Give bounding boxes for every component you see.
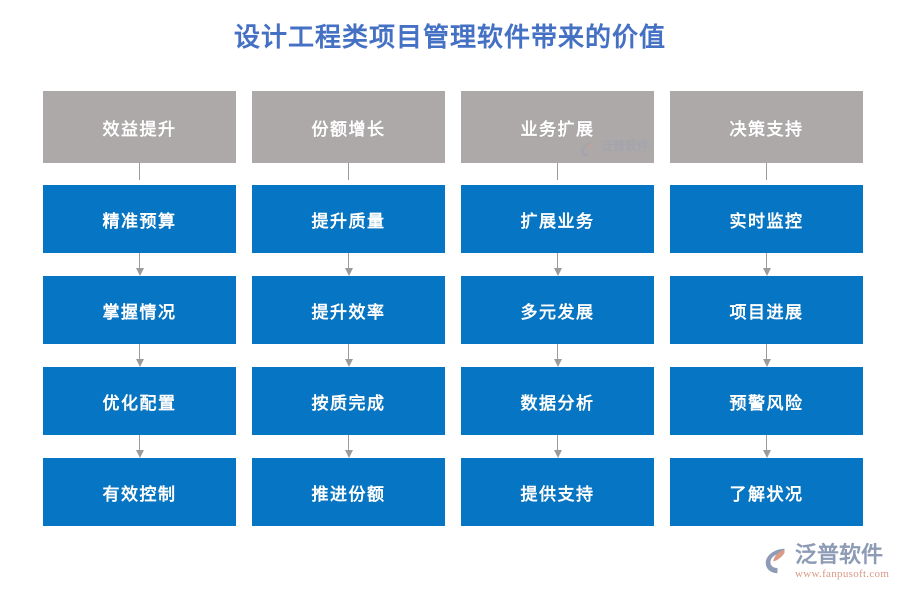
flow-step-3-4[interactable]: 提供支持 bbox=[461, 458, 654, 526]
flow-column-4: 决策支持 实时监控 项目进展 预警风险 了解状况 bbox=[670, 91, 863, 528]
connector-line bbox=[139, 163, 140, 180]
flow-step-1-4[interactable]: 有效控制 bbox=[43, 458, 236, 526]
brand-logo: 泛普软件 www.fanpusoft.com bbox=[762, 543, 892, 591]
flow-step-3-2[interactable]: 多元发展 bbox=[461, 276, 654, 344]
flow-step-4-1[interactable]: 实时监控 bbox=[670, 185, 863, 253]
diagram-canvas: 设计工程类项目管理软件带来的价值 效益提升 精准预算 掌握情况 优化配置 bbox=[0, 0, 900, 600]
flow-step-3-3[interactable]: 数据分析 bbox=[461, 367, 654, 435]
column-header-3[interactable]: 业务扩展 bbox=[461, 91, 654, 163]
arrow-down-icon bbox=[763, 268, 771, 276]
arrow-down-icon bbox=[763, 359, 771, 367]
brand-url: www.fanpusoft.com bbox=[795, 567, 889, 581]
connector-arrow-1-2 bbox=[43, 344, 236, 367]
connector-header-to-step1-col3 bbox=[461, 163, 654, 185]
arrow-down-icon bbox=[136, 268, 144, 276]
page-title: 设计工程类项目管理软件带来的价值 bbox=[0, 20, 900, 54]
arrow-down-icon bbox=[554, 359, 562, 367]
connector-arrow-3-1 bbox=[461, 253, 654, 276]
arrow-down-icon bbox=[345, 450, 353, 458]
connector-arrow-2-1 bbox=[252, 253, 445, 276]
flow-step-3-1[interactable]: 扩展业务 bbox=[461, 185, 654, 253]
flow-step-1-3[interactable]: 优化配置 bbox=[43, 367, 236, 435]
brand-name-cn: 泛普软件 bbox=[795, 543, 889, 567]
connector-header-to-step1-col1 bbox=[43, 163, 236, 185]
flow-step-4-4[interactable]: 了解状况 bbox=[670, 458, 863, 526]
flow-step-2-1[interactable]: 提升质量 bbox=[252, 185, 445, 253]
arrow-down-icon bbox=[554, 268, 562, 276]
connector-line bbox=[766, 163, 767, 180]
arrow-down-icon bbox=[763, 450, 771, 458]
flow-column-1: 效益提升 精准预算 掌握情况 优化配置 有效控制 bbox=[43, 91, 236, 528]
arrow-down-icon bbox=[345, 359, 353, 367]
connector-line bbox=[348, 163, 349, 180]
flow-step-2-4[interactable]: 推进份额 bbox=[252, 458, 445, 526]
arrow-down-icon bbox=[136, 450, 144, 458]
connector-arrow-2-3 bbox=[252, 435, 445, 458]
column-header-2[interactable]: 份额增长 bbox=[252, 91, 445, 163]
flow-step-1-2[interactable]: 掌握情况 bbox=[43, 276, 236, 344]
arrow-down-icon bbox=[136, 359, 144, 367]
connector-header-to-step1-col4 bbox=[670, 163, 863, 185]
column-header-4[interactable]: 决策支持 bbox=[670, 91, 863, 163]
arrow-down-icon bbox=[345, 268, 353, 276]
connector-arrow-4-2 bbox=[670, 344, 863, 367]
flow-step-2-3[interactable]: 按质完成 bbox=[252, 367, 445, 435]
flow-step-4-3[interactable]: 预警风险 bbox=[670, 367, 863, 435]
column-header-1[interactable]: 效益提升 bbox=[43, 91, 236, 163]
connector-header-to-step1-col2 bbox=[252, 163, 445, 185]
connector-arrow-4-3 bbox=[670, 435, 863, 458]
connector-arrow-1-1 bbox=[43, 253, 236, 276]
connector-arrow-1-3 bbox=[43, 435, 236, 458]
flow-step-1-1[interactable]: 精准预算 bbox=[43, 185, 236, 253]
arrow-down-icon bbox=[554, 450, 562, 458]
fanpu-swoosh-logo-icon bbox=[762, 545, 792, 575]
connector-line bbox=[557, 163, 558, 180]
flow-step-4-2[interactable]: 项目进展 bbox=[670, 276, 863, 344]
connector-arrow-3-2 bbox=[461, 344, 654, 367]
brand-logo-text: 泛普软件 www.fanpusoft.com bbox=[795, 543, 889, 581]
connector-arrow-4-1 bbox=[670, 253, 863, 276]
flow-column-2: 份额增长 提升质量 提升效率 按质完成 推进份额 bbox=[252, 91, 445, 528]
flow-column-3: 业务扩展 扩展业务 多元发展 数据分析 提供支持 bbox=[461, 91, 654, 528]
flow-step-2-2[interactable]: 提升效率 bbox=[252, 276, 445, 344]
flowchart-grid: 效益提升 精准预算 掌握情况 优化配置 有效控制 份额增长 bbox=[43, 91, 863, 528]
connector-arrow-3-3 bbox=[461, 435, 654, 458]
connector-arrow-2-2 bbox=[252, 344, 445, 367]
